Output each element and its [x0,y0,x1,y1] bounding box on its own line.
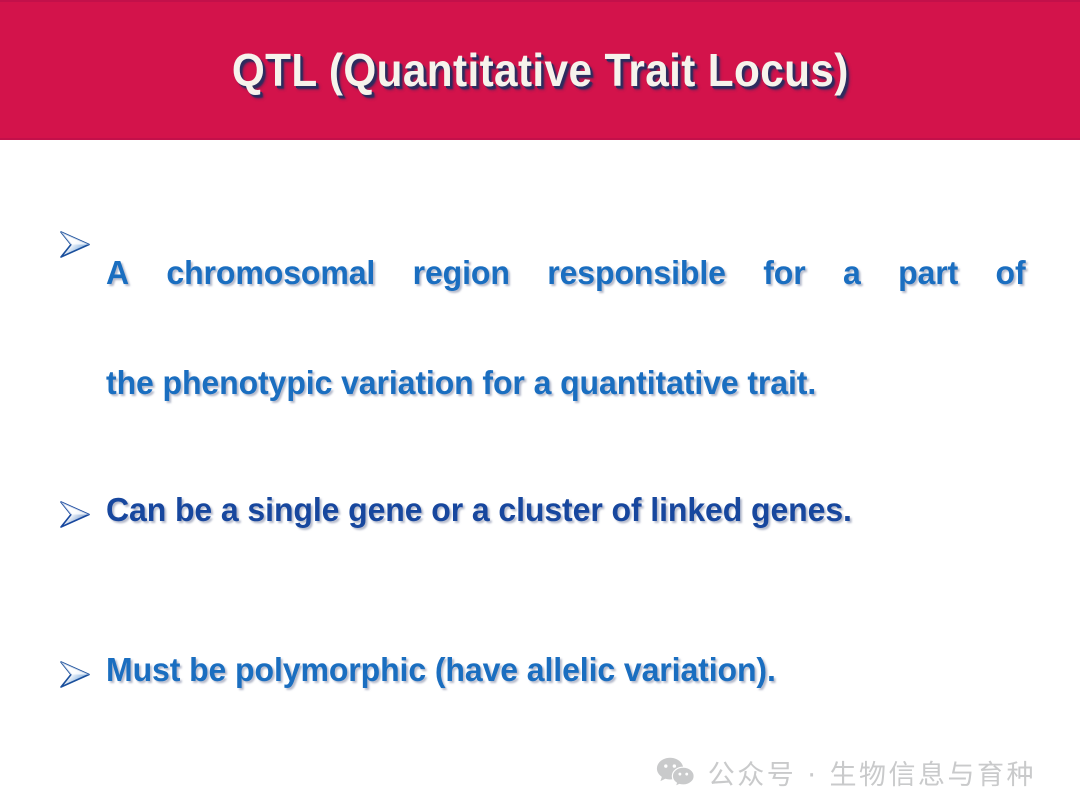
arrowhead-bullet-icon [52,492,98,538]
bullet-item-2: Can be a single gene or a cluster of lin… [52,488,1037,538]
arrowhead-bullet-icon [52,222,98,268]
bullet-1-word: region [413,218,510,328]
arrowhead-bullet-icon [52,652,98,698]
watermark-text: 公众号 · 生物信息与育种 [708,753,1036,792]
bullet-1-word: chromosomal [166,218,375,328]
bullet-item-1: Achromosomalregionresponsibleforapartof … [52,218,1037,438]
bullet-3-text-block: Must be polymorphic (have allelic variat… [98,648,1037,692]
slide-body: Achromosomalregionresponsibleforapartof … [0,140,1080,810]
slide: QTL (Quantitative Trait Locus) Achromoso… [0,0,1080,810]
bullet-1-word: for [763,218,805,328]
bullet-1-line-1-justified: Achromosomalregionresponsibleforapartof [106,218,1026,328]
bullet-3-line-1: Must be polymorphic (have allelic variat… [106,648,1009,692]
bullet-1-word: of [996,218,1026,328]
bullet-1-word: part [898,218,958,328]
title-banner: QTL (Quantitative Trait Locus) [0,0,1080,140]
bullet-1-word: a [843,218,861,328]
bullet-1-text-block: Achromosomalregionresponsibleforapartof … [98,218,1054,438]
bullet-1-word: responsible [547,218,726,328]
bullet-item-3: Must be polymorphic (have allelic variat… [52,648,1037,698]
bullet-2-text-block: Can be a single gene or a cluster of lin… [98,488,1037,532]
bullet-2-line-1: Can be a single gene or a cluster of lin… [106,488,1009,532]
page-title: QTL (Quantitative Trait Locus) [232,43,849,97]
bullet-1-word: A [106,218,129,328]
wechat-icon [656,756,696,790]
bullet-1-line-2: the phenotypic variation for a quantitat… [106,328,1026,438]
watermark: 公众号 · 生物信息与育种 [656,753,1036,792]
bullet-1-line-1: Achromosomalregionresponsibleforapartof [106,218,1026,328]
